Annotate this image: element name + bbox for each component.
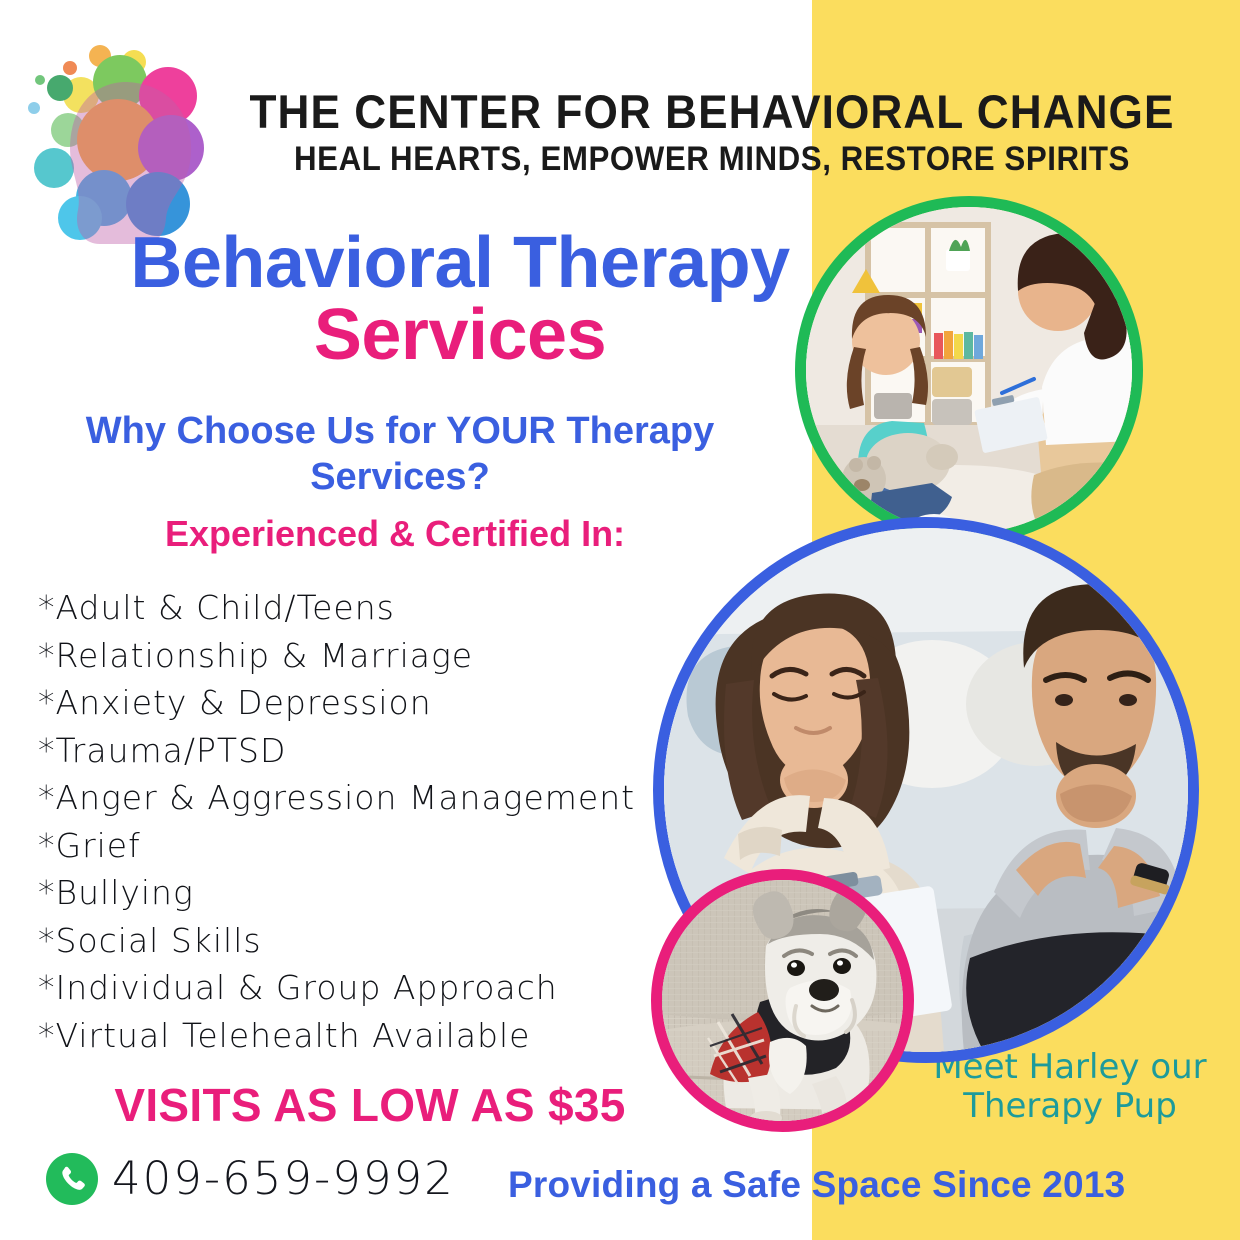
phone-number: 409-659-9992 bbox=[112, 1152, 455, 1205]
list-item: *Individual & Group Approach bbox=[38, 964, 698, 1012]
list-item: *Social Skills bbox=[38, 917, 698, 965]
list-item: *Anxiety & Depression bbox=[38, 679, 698, 727]
child-therapy-session-photo bbox=[795, 196, 1143, 544]
list-item: *Virtual Telehealth Available bbox=[38, 1012, 698, 1060]
page-title: Behavioral Therapy Services bbox=[120, 228, 800, 371]
brand-logo-icon bbox=[8, 22, 208, 247]
brand-logo-text: THE CENTER FOR BEHAVIORAL CHANGE HEAL HE… bbox=[192, 88, 1232, 178]
brand-title: THE CENTER FOR BEHAVIORAL CHANGE bbox=[223, 88, 1201, 137]
contact-phone[interactable]: 409-659-9992 bbox=[46, 1152, 455, 1205]
list-item: *Adult & Child/Teens bbox=[38, 584, 698, 632]
flyer-canvas: THE CENTER FOR BEHAVIORAL CHANGE HEAL HE… bbox=[0, 0, 1240, 1240]
headline-line-2: Services bbox=[120, 299, 800, 371]
list-item: *Trauma/PTSD bbox=[38, 727, 698, 775]
why-choose-heading: Why Choose Us for YOUR Therapy Services? bbox=[30, 408, 770, 501]
harley-caption-line-2: Therapy Pup bbox=[905, 1087, 1235, 1126]
list-item: *Anger & Aggression Management bbox=[38, 774, 698, 822]
footer-tagline: Providing a Safe Space Since 2013 bbox=[508, 1164, 1125, 1206]
services-list: *Adult & Child/Teens *Relationship & Mar… bbox=[38, 584, 698, 1059]
phone-handset-icon bbox=[46, 1153, 98, 1205]
list-item: *Grief bbox=[38, 822, 698, 870]
certified-heading: Experienced & Certified In: bbox=[30, 512, 760, 555]
list-item: *Relationship & Marriage bbox=[38, 632, 698, 680]
headline-line-1: Behavioral Therapy bbox=[120, 228, 800, 299]
price-callout: VISITS AS LOW AS $35 bbox=[40, 1078, 700, 1132]
brand-tagline: HEAL HEARTS, EMPOWER MINDS, RESTORE SPIR… bbox=[234, 142, 1191, 178]
therapy-dog-harley-photo bbox=[651, 869, 914, 1132]
list-item: *Bullying bbox=[38, 869, 698, 917]
